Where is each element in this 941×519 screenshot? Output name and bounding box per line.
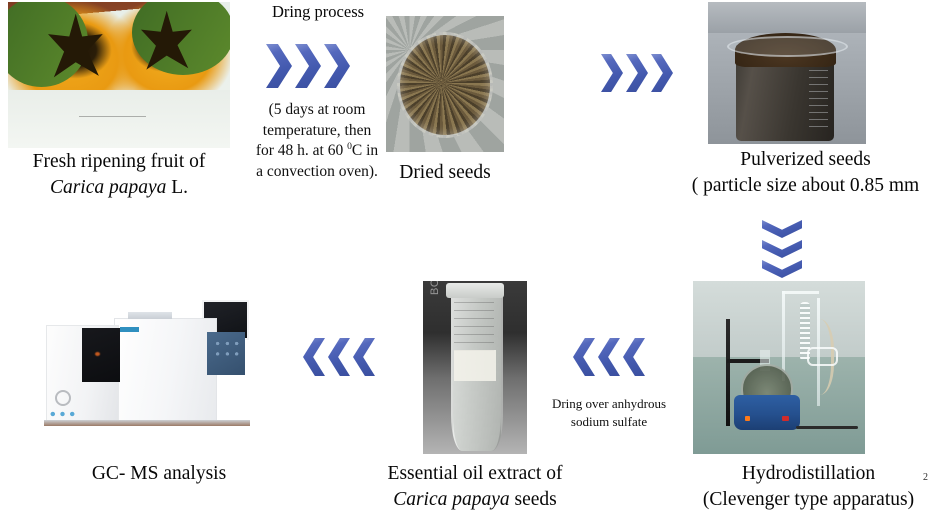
glassware-brand-text: BOROSIL 250 ml bbox=[429, 281, 441, 295]
chevron-down-icon bbox=[762, 240, 802, 258]
caption-line-1: Dried seeds bbox=[380, 160, 510, 186]
chevron-down-icon bbox=[762, 260, 802, 278]
instrument-status-leds bbox=[49, 411, 76, 416]
photo-hydrodistillation-apparatus bbox=[693, 281, 865, 454]
drying-temp-post: C in bbox=[352, 142, 378, 159]
caption-authority: L. bbox=[166, 177, 188, 198]
chevron-right-icon bbox=[601, 54, 623, 92]
chevron-down-icon bbox=[762, 220, 802, 238]
drying-line-4: a convection oven). bbox=[241, 162, 393, 183]
heating-mantle bbox=[734, 395, 799, 430]
drying-line-2: temperature, then bbox=[241, 121, 393, 142]
bench-surface bbox=[708, 2, 866, 33]
mantle-power-switch bbox=[782, 416, 789, 421]
caption-line-1: GC- MS analysis bbox=[28, 461, 290, 487]
sodium-sulfate-line-2: sodium sulfate bbox=[528, 413, 690, 431]
photo-essential-oil-extract: BOROSIL 250 ml bbox=[423, 281, 527, 454]
chevron-right-icon bbox=[266, 44, 292, 88]
caption-line-1: Essential oil extract of bbox=[344, 461, 606, 487]
sodium-sulfate-line-1: Dring over anhydrous bbox=[528, 395, 690, 413]
caption-gcms-analysis: GC- MS analysis bbox=[28, 461, 290, 487]
caption-pulverized-seeds: Pulverized seeds ( particle size about 0… bbox=[670, 147, 941, 198]
retort-stand-rod bbox=[726, 319, 730, 426]
drying-temp-pre: for 48 h. at 60 bbox=[256, 142, 347, 159]
arrow-drying-process bbox=[266, 44, 350, 88]
instrument-knob bbox=[55, 390, 71, 406]
gc-oven-module bbox=[114, 318, 217, 424]
glass-bowl-with-seeds bbox=[397, 32, 494, 138]
chevron-left-icon bbox=[598, 338, 620, 376]
gc-status-bar bbox=[120, 327, 139, 332]
photo-pulverized-seeds bbox=[708, 2, 866, 144]
gc-top-lid bbox=[128, 312, 172, 319]
caption-line-1: Hydrodistillation bbox=[676, 461, 941, 487]
chevron-right-icon bbox=[626, 54, 648, 92]
caption-fresh-papaya-fruit: Fresh ripening fruit of Carica papaya L. bbox=[0, 149, 238, 200]
photo-fresh-papaya-fruit bbox=[8, 2, 230, 148]
power-cord bbox=[796, 426, 858, 429]
beaker-graduation-marks bbox=[809, 70, 828, 127]
caption-essential-oil-extract: Essential oil extract of Carica papaya s… bbox=[344, 461, 606, 512]
chevron-left-icon bbox=[303, 338, 325, 376]
photo-dried-seeds bbox=[386, 16, 504, 152]
chevron-left-icon bbox=[328, 338, 350, 376]
label-drying-process: Dring process bbox=[245, 2, 391, 22]
label-sodium-sulfate-drying: Dring over anhydrous sodium sulfate bbox=[528, 395, 690, 430]
caption-line-1: Pulverized seeds bbox=[670, 147, 941, 173]
arrow-to-hydrodistillation bbox=[762, 220, 802, 278]
instrument-base bbox=[44, 420, 251, 425]
drying-line-1: (5 days at room bbox=[241, 100, 393, 121]
arrow-drying-over-sodium-sulfate bbox=[573, 338, 645, 376]
lab-wall bbox=[693, 281, 865, 357]
caption-line-2: ( particle size about 0.85 mm bbox=[670, 173, 941, 199]
caption-species-name: Carica papaya bbox=[50, 177, 166, 198]
caption-line-1: Fresh ripening fruit of bbox=[33, 151, 206, 172]
tube-graduations bbox=[454, 302, 494, 354]
board-crease bbox=[79, 116, 146, 117]
chevron-left-icon bbox=[573, 338, 595, 376]
chevron-right-icon bbox=[295, 44, 321, 88]
label-drying-conditions: (5 days at room temperature, then for 48… bbox=[241, 100, 393, 182]
apparatus-label-ring bbox=[807, 347, 839, 367]
drying-line-3: for 48 h. at 60 0C in bbox=[241, 141, 393, 162]
cutting-board bbox=[8, 90, 230, 148]
caption-species-name: Carica papaya bbox=[393, 489, 509, 510]
glass-column-left bbox=[782, 291, 785, 381]
ms-display-panel bbox=[82, 328, 120, 382]
chevron-left-icon bbox=[623, 338, 645, 376]
tube-cap bbox=[446, 283, 504, 299]
chevron-left-icon bbox=[353, 338, 375, 376]
caption-line-2: (Clevenger type apparatus) bbox=[676, 487, 941, 513]
chevron-right-icon bbox=[651, 54, 673, 92]
arrow-pulverizing bbox=[601, 54, 673, 92]
caption-hydrodistillation: Hydrodistillation (Clevenger type appara… bbox=[676, 461, 941, 512]
arrow-to-gcms bbox=[303, 338, 375, 376]
page-number: 2 bbox=[923, 472, 928, 483]
caption-line-2-rest: seeds bbox=[510, 489, 557, 510]
caption-dried-seeds: Dried seeds bbox=[380, 160, 510, 186]
chevron-right-icon bbox=[324, 44, 350, 88]
beaker-rim bbox=[727, 36, 848, 57]
condenser-top-bend bbox=[782, 291, 818, 294]
tube-label bbox=[454, 350, 496, 381]
autosampler-vial-tray bbox=[212, 337, 239, 362]
photo-gcms-instrument bbox=[22, 278, 294, 458]
mantle-indicator-light bbox=[745, 416, 750, 421]
